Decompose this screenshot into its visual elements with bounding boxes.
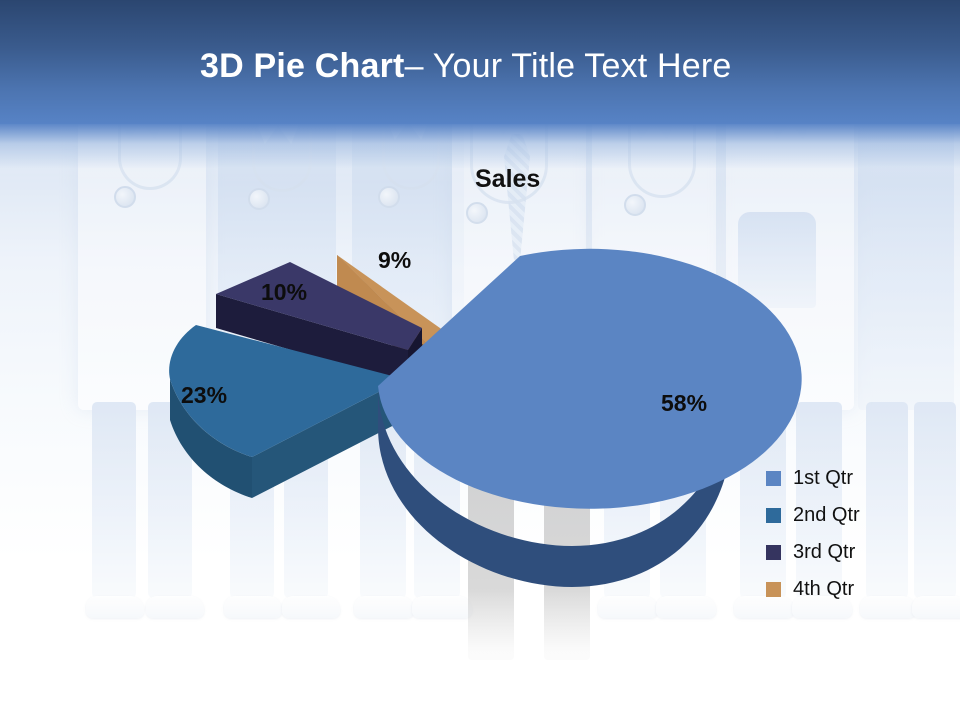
legend-label-3rd-qtr: 3rd Qtr	[793, 541, 855, 564]
slice-label-2nd-qtr: 23%	[181, 382, 227, 409]
slice-label-4th-qtr: 9%	[378, 247, 411, 274]
legend-swatch-icon-1st-qtr	[766, 471, 781, 486]
legend-item-4th-qtr[interactable]: 4th Qtr	[766, 571, 860, 608]
legend-label-4th-qtr: 4th Qtr	[793, 578, 854, 601]
legend-swatch-icon-3rd-qtr	[766, 545, 781, 560]
legend-item-2nd-qtr[interactable]: 2nd Qtr	[766, 497, 860, 534]
page-title: 3D Pie Chart– Your Title Text Here	[200, 47, 732, 86]
legend-item-3rd-qtr[interactable]: 3rd Qtr	[766, 534, 860, 571]
legend-swatch-icon-4th-qtr	[766, 582, 781, 597]
page-title-rest: – Your Title Text Here	[405, 47, 732, 85]
legend-label-2nd-qtr: 2nd Qtr	[793, 504, 860, 527]
page-title-bold: 3D Pie Chart	[200, 47, 405, 85]
slice-label-3rd-qtr: 10%	[261, 279, 307, 306]
pie-chart-graphic	[0, 124, 960, 720]
pie-slice-1st-qtr-top	[378, 249, 802, 509]
chart-legend: 1st Qtr 2nd Qtr 3rd Qtr 4th Qtr	[766, 460, 860, 608]
legend-item-1st-qtr[interactable]: 1st Qtr	[766, 460, 860, 497]
slice-label-1st-qtr: 58%	[661, 390, 707, 417]
pie-chart: Sales	[0, 124, 960, 720]
legend-swatch-icon-2nd-qtr	[766, 508, 781, 523]
legend-label-1st-qtr: 1st Qtr	[793, 467, 853, 490]
pie-slice-1st-qtr[interactable]	[378, 249, 802, 587]
slide-canvas: 3D Pie Chart– Your Title Text Here Sales	[0, 0, 960, 720]
